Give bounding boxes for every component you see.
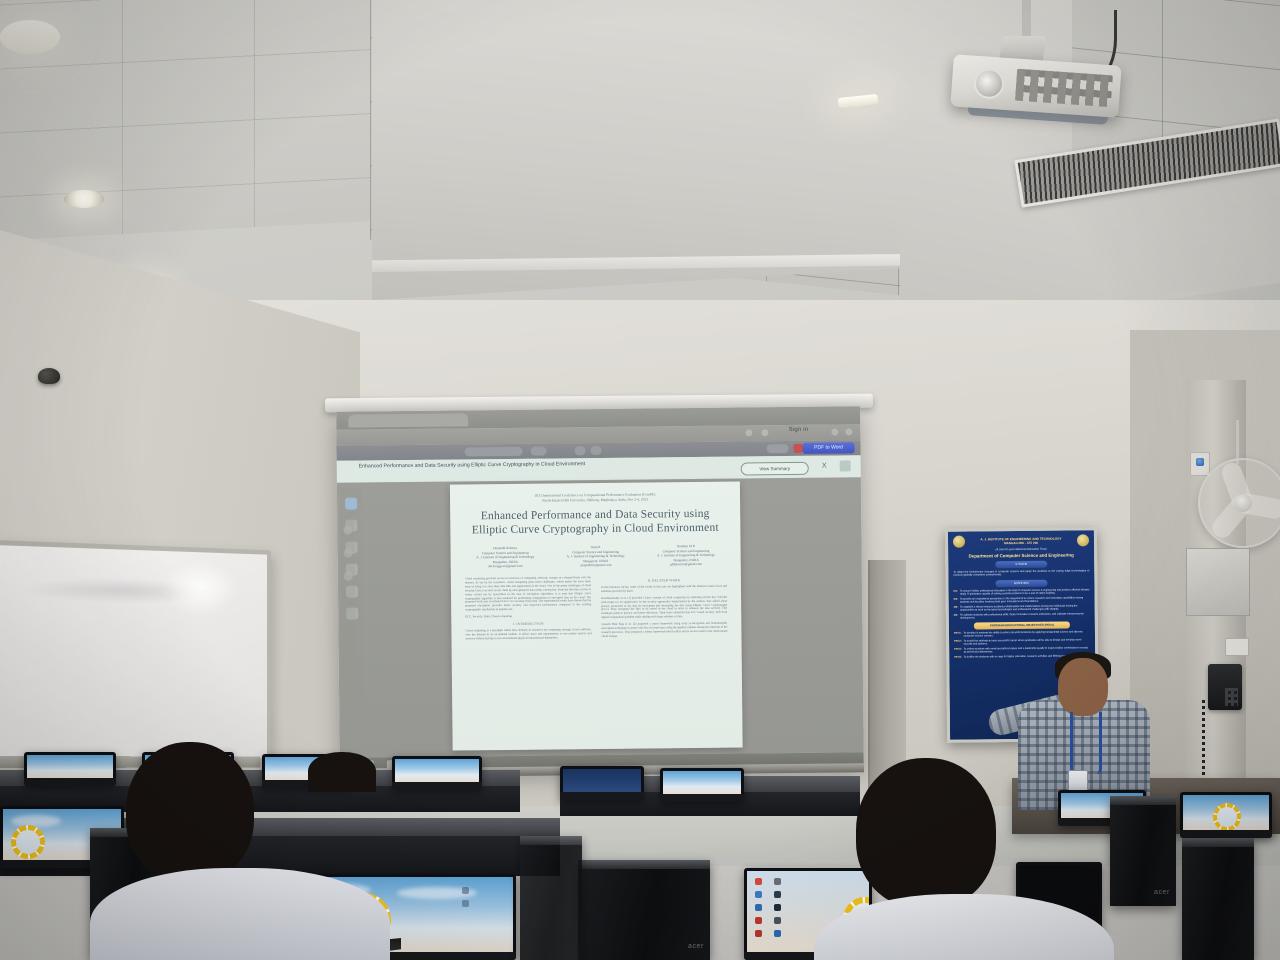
cpu-brand-label-4: acer — [1154, 889, 1170, 896]
poster-mission-1-text: To ensure holistic professional educatio… — [960, 588, 1090, 596]
desktop-icon-computer[interactable] — [755, 891, 762, 898]
desktop-icons-column-2[interactable] — [769, 874, 785, 943]
wall-outlet-box[interactable] — [1225, 638, 1249, 656]
monitor-right-1-screen — [1183, 795, 1269, 830]
cpu-tower-5 — [1182, 838, 1254, 960]
monitor-far-4-screen — [395, 759, 479, 782]
cctv-camera-icon — [38, 368, 60, 384]
projector-mount-pole — [1022, 0, 1031, 40]
paper-related-text-3: Qureshi Bilal Raja et al. [2] proposed a… — [601, 622, 727, 639]
monitor-far-1 — [24, 752, 116, 786]
poster-mission-band: MISSION — [995, 580, 1047, 588]
browser-extension-icon[interactable] — [745, 429, 752, 436]
academia-close-icon[interactable]: X — [822, 463, 827, 470]
pdf-right-rail — [340, 512, 357, 754]
poster-peo-1-id: PEO1: — [954, 632, 962, 638]
pdf-search-icon[interactable] — [574, 446, 585, 455]
student-mid-head — [308, 752, 376, 792]
monitor-far-6 — [660, 768, 744, 802]
downlight-1 — [64, 190, 104, 208]
panel-light-2 — [0, 20, 60, 54]
logo-inner — [1217, 807, 1237, 827]
logo-inner — [16, 830, 40, 854]
poster-mission-2: M2: To provide an inspirational atmosphe… — [954, 596, 1090, 604]
academia-view-summary-button[interactable]: View Summary — [741, 462, 809, 476]
desktop-icon-2[interactable] — [462, 900, 469, 907]
institute-logo-right-icon — [1077, 534, 1089, 546]
wall-phone[interactable] — [1208, 664, 1242, 710]
monitor-far-6-base — [660, 794, 744, 802]
desktop-icon-folder-5[interactable] — [774, 930, 781, 937]
presenter-head — [1058, 658, 1108, 716]
desktop-icon-folder-1[interactable] — [774, 878, 781, 885]
poster-header-row: A. J. INSTITUTE OF ENGINEERING AND TECHN… — [953, 534, 1089, 547]
desktop-icon-pdf[interactable] — [755, 917, 762, 924]
author-3-email: ghhjkwrmr@gmail.com — [645, 562, 726, 567]
pdf-premium-label: PDF to Word — [802, 442, 854, 454]
poster-mission-4-text: To cultivate students with professional … — [960, 612, 1090, 620]
author-1-email: abcd.engg.ac@gmail.com — [465, 564, 546, 569]
cpu-tower-4: acer — [1110, 796, 1176, 906]
whiteboard — [0, 540, 271, 772]
classroom-scene: Sign in PDF to Word Enhanced Performance… — [0, 0, 1280, 960]
institute-logo-left-icon — [953, 536, 965, 548]
cpu-tower-4-top — [1110, 796, 1176, 805]
poster-mission-3-text: To establish a vibrant industry-academia… — [960, 604, 1090, 612]
poster-mission-3: M3: To establish a vibrant industry-acad… — [954, 604, 1090, 612]
poster-mission-2-text: To provide an inspirational atmosphere i… — [960, 596, 1090, 604]
fan-hub — [1234, 494, 1252, 512]
paper-author-block: Hemanth Acharya Computer Science and Eng… — [465, 544, 727, 570]
paper-related-text-2: Krrishnamurthy et al. [1] provided a bas… — [601, 595, 727, 620]
desktop-icon-recycle[interactable] — [755, 878, 762, 885]
wall-switch-socket[interactable] — [1190, 452, 1210, 476]
desktop-icon-folder-2[interactable] — [774, 891, 781, 898]
ceiling-tiles-left — [0, 0, 410, 241]
monitor-far-4-base — [392, 782, 482, 790]
projection-screen: Sign in PDF to Word Enhanced Performance… — [336, 406, 864, 773]
cpu-tower-3 — [520, 836, 582, 960]
poster-peo-1-text: To develop in students the ability to so… — [963, 630, 1090, 638]
poster-mission-3-id: M3: — [954, 605, 958, 611]
browser-tab[interactable] — [348, 413, 468, 427]
pdf-page-indicator — [464, 447, 522, 457]
projector-lens-icon — [973, 68, 1005, 100]
desktop-icons-front-left[interactable] — [457, 883, 473, 913]
pdf-zoom-control[interactable] — [530, 447, 546, 456]
poster-institute-lines: A. J. INSTITUTE OF ENGINEERING AND TECHN… — [968, 536, 1074, 545]
poster-peo-band: PROGRAM EDUCATIONAL OBJECTIVES (PEOs) — [974, 621, 1070, 629]
poster-peo-3-id: PEO3: — [954, 647, 962, 653]
paper-columns: Cloud computing provides access to resou… — [465, 575, 728, 641]
pdf-convert-icon[interactable] — [793, 444, 802, 453]
poster-vision-band: VISION — [995, 561, 1047, 569]
cpu-tower-5-top — [1182, 838, 1254, 847]
electrical-panel-box — [1186, 548, 1250, 616]
pdf-premium-button[interactable]: PDF to Word — [802, 442, 854, 454]
poster-mission-4-id: M4: — [954, 613, 958, 619]
monitor-right-1-base — [1180, 830, 1272, 838]
desktop-icon-folder-4[interactable] — [774, 917, 781, 924]
browser-close-icon[interactable] — [845, 428, 852, 435]
student-right-head — [856, 758, 996, 908]
desktop-icon-folder-3[interactable] — [774, 904, 781, 911]
monitor-far-1-base — [24, 778, 116, 786]
cpu-tower-2: acer — [578, 860, 710, 960]
right-rail-fit-icon[interactable] — [343, 572, 352, 581]
student-left-head — [126, 742, 254, 882]
wallpaper-cloud — [11, 815, 61, 827]
cpu-brand-label-2: acer — [688, 943, 704, 950]
monitor-far-5-screen — [563, 769, 641, 792]
projector-ports — [1015, 69, 1113, 108]
poster-peo-1: PEO1: To develop in students the ability… — [954, 630, 1090, 638]
poster-mission-4: M4: To cultivate students with professio… — [954, 612, 1090, 620]
right-rail-zoom-out-icon[interactable] — [343, 549, 352, 558]
author-3: Darshan M R Computer Science and Enginee… — [645, 544, 726, 568]
pdf-print-icon[interactable] — [590, 446, 601, 455]
whiteboard-glare — [162, 559, 238, 617]
poster-peo-2-id: PEO2: — [954, 639, 962, 645]
poster-department: Department of Computer Science and Engin… — [953, 552, 1089, 558]
paper-abstract: Cloud computing provides access to resou… — [465, 576, 591, 612]
paper-related-text-1: In this literature survey, some of the w… — [601, 585, 727, 594]
monitor-far-6-screen — [663, 771, 741, 794]
poster-peo-2-text: To mould the students to have successful… — [964, 638, 1091, 646]
socket-indicator-icon — [1196, 458, 1204, 466]
browser-profile-icon[interactable] — [761, 429, 768, 436]
desktop-icon-app[interactable] — [755, 930, 762, 937]
browser-menu-icon[interactable] — [831, 428, 838, 435]
desktop-icons-front-right[interactable] — [750, 874, 766, 943]
poster-mission-1-id: M1: — [954, 589, 958, 595]
poster-mission-1: M1: To ensure holistic professional educ… — [954, 588, 1090, 596]
paper-intro-text: Cloud computing is a paradigm which does… — [465, 628, 591, 641]
desktop-icon-browser[interactable] — [755, 904, 762, 911]
paper-column-right: II. RELATED WORK In this literature surv… — [601, 575, 728, 640]
poster-institute-sub: (A Unit of Laxmi Memorial Education Trus… — [953, 547, 1089, 551]
paper-page: 2023 International Conference on Computa… — [450, 482, 743, 751]
college-logo-icon-mid1 — [11, 825, 45, 859]
presenter-lanyard — [1070, 712, 1102, 774]
author-2-email: nirajbd001@gmail.com — [555, 563, 636, 568]
sidebar-thumbnail-icon[interactable] — [345, 498, 357, 510]
monitor-far-1-screen — [27, 755, 113, 778]
poster-peo-4-id: PEO4: — [954, 655, 962, 658]
paper-title-line-2: Elliptic Curve Cryptography in Cloud Env… — [464, 521, 726, 538]
right-rail-zoom-in-icon[interactable] — [343, 526, 352, 535]
cpu-tower-2-top — [578, 860, 710, 869]
phone-keypad-icon[interactable] — [1225, 688, 1238, 706]
academia-share-icon[interactable] — [840, 460, 851, 471]
poster-peo-2: PEO2: To mould the students to have succ… — [954, 638, 1090, 646]
pdf-save-button[interactable] — [766, 444, 788, 453]
college-logo-icon-right — [1213, 803, 1241, 830]
cpu-tower-3-top — [520, 836, 582, 845]
browser-sign-in-button[interactable]: Sign in — [789, 427, 809, 433]
monitor-far-5-base — [560, 792, 644, 800]
author-2: Niraj R Computer Science and Engineering… — [555, 545, 636, 569]
academia-view-summary-label: View Summary — [742, 463, 808, 475]
poster-mission-2-id: M2: — [954, 597, 958, 603]
monitor-right-1 — [1180, 792, 1272, 838]
monitor-far-4 — [392, 756, 482, 790]
paper-column-left: Cloud computing provides access to resou… — [465, 576, 592, 641]
poster-vision-text: To adapt the evolutionary changes in com… — [953, 569, 1089, 577]
paper-keywords: ECC, Security, Data, Cloud computing — [465, 614, 591, 619]
student-left-shoulders — [90, 868, 390, 960]
wall-mounted-fan — [1198, 458, 1280, 548]
monitor-far-5 — [560, 766, 644, 800]
author-1: Hemanth Acharya Computer Science and Eng… — [465, 546, 546, 570]
desktop-icon-1[interactable] — [462, 887, 469, 894]
